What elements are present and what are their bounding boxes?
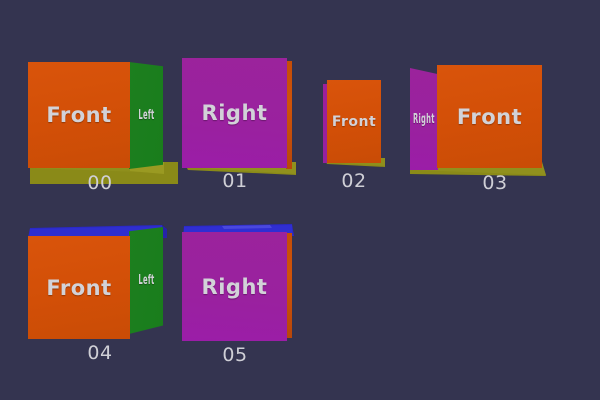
cube-04-face-front-text: Front <box>46 276 111 300</box>
cube-05-face-right[interactable]: Right <box>182 232 287 341</box>
cube-04-face-front[interactable]: Front <box>28 236 130 339</box>
cube-03-face-right-text: Right <box>413 112 435 127</box>
cube-03[interactable]: Right Front 03 <box>410 62 550 192</box>
cube-03-face-front[interactable]: Front <box>437 65 542 168</box>
cube-01-face-right-text: Right <box>202 101 268 125</box>
cube-02[interactable]: Front 02 <box>321 80 411 190</box>
cube-00-face-front[interactable]: Front <box>28 62 130 168</box>
cube-01-face-right[interactable]: Right <box>182 58 287 168</box>
cube-05-label: 05 <box>215 344 255 366</box>
cube-00-face-left[interactable]: Left <box>129 62 163 169</box>
cube-00[interactable]: Left Front 00 <box>28 62 178 187</box>
cube-02-label: 02 <box>334 170 374 192</box>
cube-04-face-left[interactable]: Left <box>129 227 163 334</box>
cube-grid-canvas: Left Front 00 Right 01 Front 02 <box>0 0 600 400</box>
cube-03-face-front-text: Front <box>457 105 522 129</box>
cube-01[interactable]: Right 01 <box>182 58 312 188</box>
cube-01-label: 01 <box>215 170 255 192</box>
cube-00-face-left-text: Left <box>138 108 154 123</box>
cube-00-face-front-text: Front <box>46 103 111 127</box>
cube-00-label: 00 <box>80 172 120 194</box>
cube-04-label: 04 <box>80 342 120 364</box>
cube-04[interactable]: Left Front 04 <box>28 222 178 357</box>
cube-03-face-right[interactable]: Right <box>410 68 438 170</box>
cube-05-face-right-text: Right <box>202 275 268 299</box>
cube-03-label: 03 <box>475 172 515 194</box>
cube-02-face-front-text: Front <box>332 114 376 130</box>
cube-02-face-front[interactable]: Front <box>327 80 381 163</box>
cube-04-face-left-text: Left <box>138 273 154 288</box>
cube-05[interactable]: Right 05 <box>182 222 312 357</box>
